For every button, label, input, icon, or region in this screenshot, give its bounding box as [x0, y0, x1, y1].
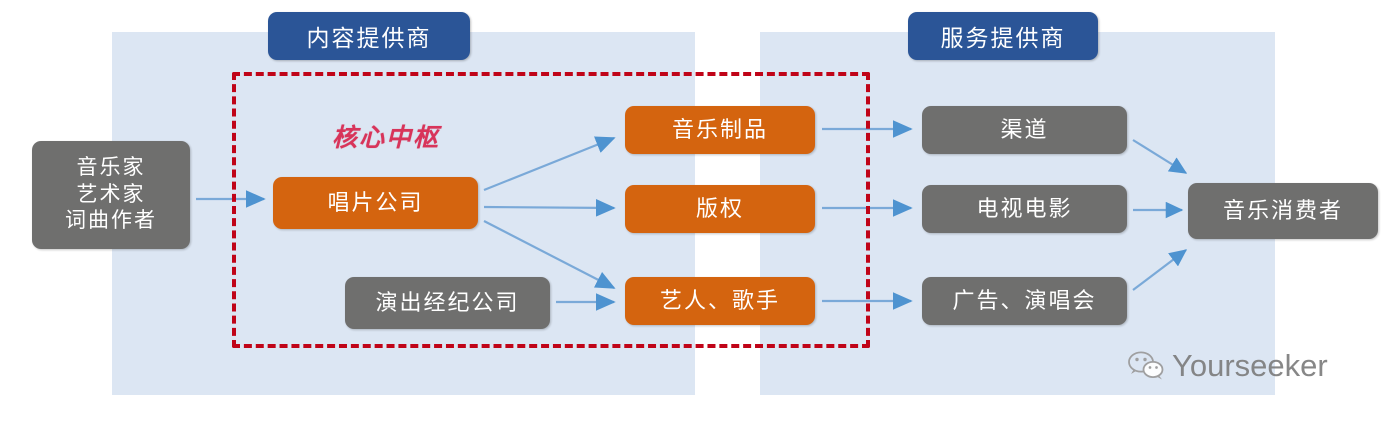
node-channels: 渠道 — [922, 106, 1127, 154]
header-service-provider-label: 服务提供商 — [941, 19, 1066, 53]
node-record-label: 唱片公司 — [273, 177, 478, 229]
node-ads-concerts: 广告、演唱会 — [922, 277, 1127, 325]
node-music-products: 音乐制品 — [625, 106, 815, 154]
header-content-provider: 内容提供商 — [268, 12, 470, 60]
node-ads-concerts-text: 广告、演唱会 — [952, 287, 1096, 315]
node-music-products-text: 音乐制品 — [672, 116, 768, 144]
node-copyright: 版权 — [625, 185, 815, 233]
header-content-provider-label: 内容提供商 — [307, 19, 432, 53]
node-tv-film: 电视电影 — [922, 185, 1127, 233]
core-hub-label: 核心中枢 — [332, 118, 440, 154]
node-performance-agency-text: 演出经纪公司 — [375, 289, 519, 317]
node-music-creators-line-3: 词曲作者 — [65, 208, 157, 235]
node-music-consumers: 音乐消费者 — [1188, 183, 1378, 239]
node-artists-singers-text: 艺人、歌手 — [660, 287, 780, 315]
node-record-label-text: 唱片公司 — [327, 189, 423, 217]
node-artists-singers: 艺人、歌手 — [625, 277, 815, 325]
node-music-creators: 音乐家 艺术家 词曲作者 — [32, 141, 190, 249]
node-tv-film-text: 电视电影 — [976, 195, 1072, 223]
node-channels-text: 渠道 — [1000, 116, 1048, 144]
header-service-provider: 服务提供商 — [908, 12, 1098, 60]
node-performance-agency: 演出经纪公司 — [345, 277, 550, 329]
node-music-creators-line-2: 艺术家 — [77, 182, 146, 209]
watermark: Yourseeker — [1128, 348, 1328, 384]
wechat-icon — [1128, 351, 1164, 381]
diagram-canvas: 内容提供商 服务提供商 核心中枢 音乐家 艺术家 词曲作者 唱片公司 演出经纪公… — [0, 0, 1397, 427]
node-music-consumers-text: 音乐消费者 — [1223, 197, 1343, 225]
node-music-creators-line-1: 音乐家 — [77, 155, 146, 182]
node-copyright-text: 版权 — [696, 195, 744, 223]
watermark-text: Yourseeker — [1172, 348, 1328, 384]
